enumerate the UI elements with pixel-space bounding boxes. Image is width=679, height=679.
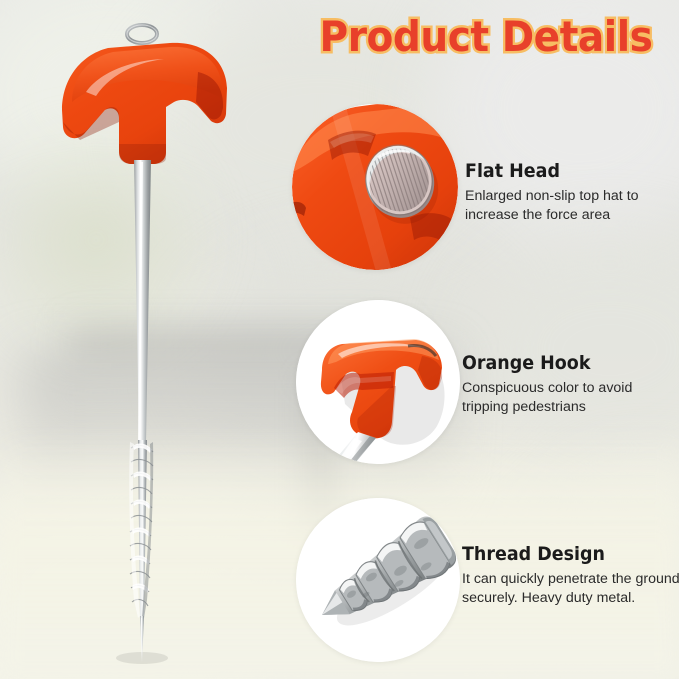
tent-stake-illustration: [20, 10, 270, 670]
feature-inset-thread-design: [296, 498, 460, 662]
feature-body: Conspicuous color to avoid tripping pede…: [462, 379, 679, 417]
feature-caption-orange-hook: Orange Hook Conspicuous color to avoid t…: [462, 352, 679, 417]
feature-heading: Flat Head: [465, 160, 666, 182]
thread-design-closeup-illustration: [296, 498, 460, 662]
hero-product-image: [20, 10, 270, 670]
feature-body: It can quickly penetrate the ground secu…: [462, 570, 679, 608]
feature-heading: Orange Hook: [462, 352, 663, 374]
feature-caption-thread-design: Thread Design It can quickly penetrate t…: [462, 543, 679, 608]
product-details-infographic: Product Details: [0, 0, 679, 679]
page-title: Product Details: [313, 16, 659, 58]
feature-inset-orange-hook: [296, 300, 460, 464]
feature-caption-flat-head: Flat Head Enlarged non-slip top hat to i…: [465, 160, 679, 225]
feature-inset-flat-head: [292, 104, 458, 270]
flat-head-closeup-illustration: [292, 104, 458, 270]
feature-body: Enlarged non-slip top hat to increase th…: [465, 187, 679, 225]
feature-heading: Thread Design: [462, 543, 663, 565]
orange-hook-closeup-illustration: [296, 300, 460, 464]
